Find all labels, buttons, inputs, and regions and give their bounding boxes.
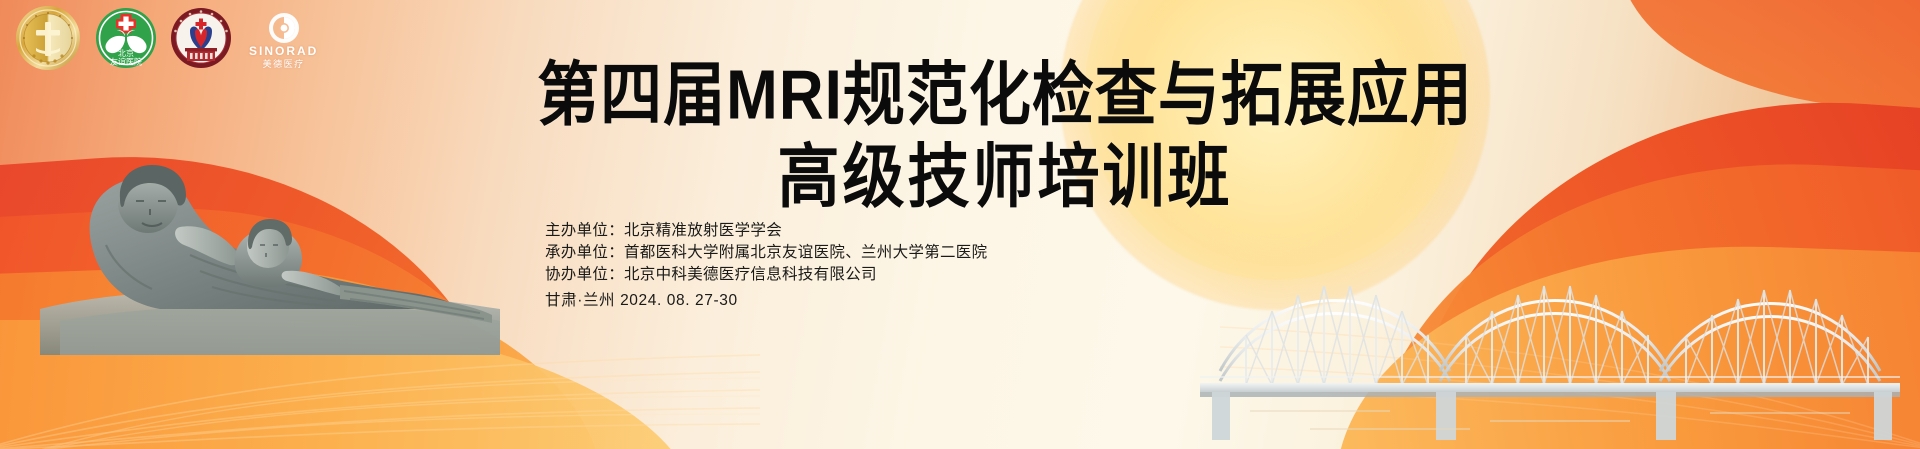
title-line-2: 高级技师培训班 xyxy=(90,140,1920,216)
organizer-line: 主办单位：北京精准放射医学学会 xyxy=(545,220,987,242)
friendship-hospital-label-line1: 北京 xyxy=(118,48,134,58)
host-line: 承办单位：首都医科大学附属北京友谊医院、兰州大学第二医院 xyxy=(545,242,987,264)
title-block: 第四届MRI规范化检查与拓展应用 高级技师培训班 xyxy=(0,58,1920,208)
conference-banner: 北京 友谊医院 xyxy=(0,0,1920,449)
location-date-line: 甘肃·兰州 2024. 08. 27-30 xyxy=(545,290,987,312)
event-details: 主办单位：北京精准放射医学学会 承办单位：首都医科大学附属北京友谊医院、兰州大学… xyxy=(545,220,987,312)
co-organizer-line: 协办单位：北京中科美德医疗信息科技有限公司 xyxy=(545,264,987,286)
zhongshan-bridge xyxy=(1190,185,1910,440)
title-line-1: 第四届MRI规范化检查与拓展应用 xyxy=(90,58,1920,134)
sinorad-wordmark: SINORAD xyxy=(249,45,318,58)
sinorad-mark-icon xyxy=(268,12,300,44)
